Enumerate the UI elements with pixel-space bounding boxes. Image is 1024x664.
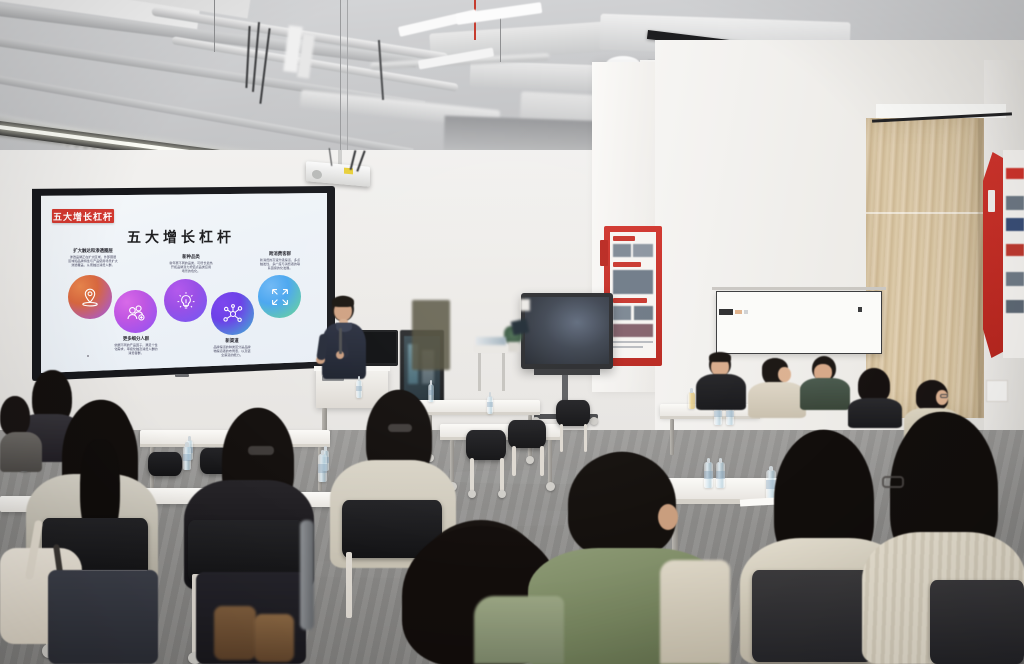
poster-section-header	[613, 262, 641, 267]
projector-indicator	[344, 168, 353, 175]
bottle-cap	[358, 376, 361, 381]
attendee-fg-9	[660, 560, 730, 664]
eyeglasses-icon	[940, 394, 948, 398]
lever-desc-text: 新年赛不同的品类，可增长最热开拓品牌潜力增值点品类应用场景的色化。	[169, 261, 212, 273]
chair-frame	[346, 552, 352, 618]
table-leg	[670, 419, 674, 455]
attendee-hair	[709, 352, 731, 362]
plant-pot	[508, 342, 519, 352]
slide-title: 五大增长杠杆	[127, 227, 235, 247]
chair-frame	[512, 446, 516, 476]
poster-photo	[1006, 196, 1024, 210]
wall-outlet	[520, 299, 530, 311]
chair-frame	[560, 424, 563, 452]
poster-photo	[613, 306, 631, 320]
water-bottle	[688, 392, 695, 409]
poster-text-line	[613, 341, 653, 343]
hanging-cable	[500, 18, 501, 62]
whiteboard-hook	[858, 307, 862, 312]
attendee-far-1	[696, 352, 746, 408]
hanging-cable	[214, 0, 215, 52]
hair-clip	[248, 446, 274, 455]
hair-clip	[388, 424, 412, 432]
poster-section-header	[613, 298, 647, 303]
lever-circle-2	[114, 290, 157, 333]
slide-badge: 五大增长杠杆	[52, 209, 114, 223]
poster-photo	[633, 244, 653, 257]
water-bottle	[487, 396, 493, 414]
bottle-cap	[489, 392, 492, 397]
slide-artifact	[87, 355, 89, 357]
wall-board	[412, 300, 450, 370]
eyeglasses-icon	[882, 476, 904, 488]
poster-side-tab	[988, 190, 995, 212]
attendee-hair	[858, 368, 890, 402]
attendee-face	[778, 367, 791, 382]
supply-cart	[474, 344, 508, 353]
bottle-label	[487, 402, 493, 407]
hanging-cable	[347, 0, 348, 150]
lever-desc-text: 新消费的高速升级渠道，多点触发性，多广度与消费者的联系链接的化发展。	[260, 258, 300, 270]
lever-description: 品牌渠道的种类区分是品牌物渠道者的布局表，以及链全渠道的能力。	[195, 345, 269, 358]
poster-photo	[613, 270, 653, 294]
attendee-hair	[568, 452, 676, 556]
attendee-torso	[800, 378, 850, 410]
whiteboard-magnet	[744, 310, 748, 314]
attendee-fg-8	[474, 596, 564, 664]
poster-photo	[1006, 218, 1024, 231]
poster-photo	[1006, 168, 1024, 179]
lever-desc-text: 渗透品牌正在扩大区域、外部圈层区域和品牌特性与产品使用场景扩大渗透覆盖，从而触达…	[68, 255, 118, 267]
lever-circle-5	[258, 275, 301, 318]
screen-brand-mark	[175, 374, 189, 377]
bottle-label	[714, 411, 722, 417]
lever-description: 渗透品牌正在扩大区域、外部圈层区域和品牌特性与产品使用场景扩大渗透覆盖，从而触达…	[55, 255, 131, 268]
projector-lens	[312, 170, 322, 180]
umbrella	[300, 520, 314, 630]
poster-photo	[1006, 244, 1024, 256]
lever-desc-text: 依据不同的产品因子，满足个性化需求，率级化触及消费人群的消费者群。	[114, 343, 157, 355]
chair-backrest	[930, 580, 1024, 664]
lever-description: 依据不同的产品因子，满足个性化需求，率级化触及消费人群的消费者群。	[99, 343, 173, 356]
poster-text-line	[613, 346, 643, 348]
lever-description: 新年赛不同的品类，可增长最热开拓品牌潜力增值点品类应用场景的色化。	[155, 261, 227, 274]
network-nodes-icon	[211, 292, 254, 335]
chair-caster	[498, 490, 506, 498]
bottle-cap	[324, 446, 327, 451]
chair-frame	[584, 424, 587, 452]
lever-label: 更多细分人群	[101, 336, 171, 342]
display-stand-caster	[590, 417, 598, 425]
cart-items	[476, 337, 506, 345]
cart-post	[502, 353, 505, 391]
microphone	[339, 328, 342, 354]
projection-screen-surface: 五大增长杠杆 五大增长杠杆 渗透品牌正在扩大区域、外部圈层区域和品牌特性与产品使…	[41, 193, 327, 373]
chair-backrest	[466, 430, 506, 460]
hanging-cable	[340, 0, 341, 160]
presentation-slide: 五大增长杠杆 五大增长杠杆 渗透品牌正在扩大区域、外部圈层区域和品牌特性与产品使…	[41, 193, 327, 373]
lever-circle-1	[68, 275, 112, 319]
lever-description: 新消费的高速升级渠道，多点触发性，多广度与消费者的联系链接的化发展。	[243, 258, 317, 271]
whiteboard-rail	[712, 287, 886, 290]
whiteboard-magnet	[735, 310, 742, 314]
poster-photo	[613, 324, 653, 337]
whiteboard-marker-tray	[719, 309, 733, 315]
bottle-cap	[321, 450, 325, 455]
mobile-display-screen[interactable]	[525, 297, 609, 364]
table-edge	[660, 416, 760, 419]
chair-frame	[500, 458, 504, 492]
chair-backrest	[556, 400, 590, 426]
poster-photo	[1006, 272, 1024, 286]
bottle-label	[726, 411, 734, 417]
attendee-far-3	[798, 356, 850, 408]
lever-label: 新种品类	[157, 254, 225, 260]
location-pin-icon	[68, 275, 112, 319]
attendee-lower-body	[48, 570, 158, 664]
lever-label: 跨消费客群	[245, 251, 315, 257]
expand-arrows-icon	[258, 275, 301, 318]
lightbulb-icon	[164, 279, 207, 322]
presenter	[312, 296, 376, 386]
people-add-icon	[114, 290, 157, 333]
wood-panel-seam	[866, 212, 984, 214]
poster-photo	[613, 244, 631, 257]
chair-backrest	[508, 420, 546, 448]
chair-frame	[470, 458, 474, 492]
poster-photo	[1006, 300, 1024, 313]
wall-sign	[986, 380, 1008, 402]
poster-section-header	[613, 236, 635, 241]
whiteboard[interactable]	[716, 291, 882, 354]
bottle-cap	[690, 388, 693, 393]
lever-label: 新渠道	[197, 338, 267, 344]
conference-room-photo: 五大增长杠杆 五大增长杠杆 渗透品牌正在扩大区域、外部圈层区域和品牌特性与产品使…	[0, 0, 1024, 664]
poster-side-tab	[600, 240, 608, 266]
boot	[254, 614, 294, 662]
lever-circle-4	[211, 292, 254, 335]
chair-caster	[468, 490, 476, 498]
presenter-hair	[332, 296, 354, 307]
attendee-torso	[696, 374, 746, 410]
cart-post	[478, 353, 481, 391]
boot	[214, 606, 256, 660]
poster-photo	[634, 306, 653, 320]
bottle-cap	[430, 380, 433, 385]
chair-backrest	[752, 570, 872, 662]
lever-label: 扩大触达和渗透圈层	[55, 248, 131, 254]
attendee-ear	[658, 504, 678, 530]
lever-desc-text: 品牌渠道的种类区分是品牌物渠道者的布局表，以及链全渠道的能力。	[213, 345, 250, 357]
lever-circle-3	[164, 279, 207, 322]
